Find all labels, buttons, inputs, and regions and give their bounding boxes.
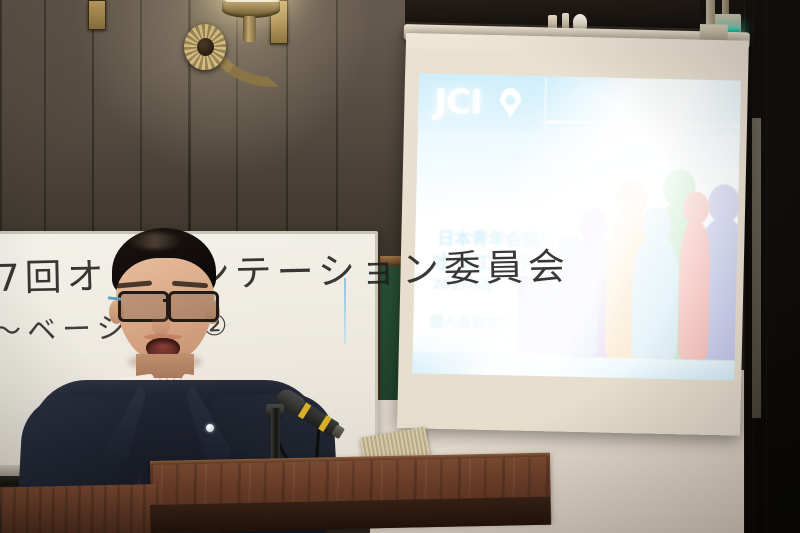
brass-plaque-left <box>88 0 106 30</box>
lamp-wall-rosette <box>184 24 226 70</box>
nose <box>152 314 170 336</box>
silhouette-skyblue <box>631 206 680 359</box>
glasses-bridge <box>163 299 170 302</box>
jci-logo-text: JCI <box>434 82 482 123</box>
door-frame-strip <box>752 118 761 418</box>
glasses-temple <box>108 296 121 300</box>
silhouette-pink <box>675 191 715 360</box>
podium-left-panel <box>0 484 161 533</box>
photo-scene: JCI 日本青年会議所 オリエンテーション委員会 2017年度 個人会員制度プロ… <box>0 0 800 533</box>
screen-mount <box>706 0 715 26</box>
lapel-pin <box>206 424 214 432</box>
projection-screen: JCI 日本青年会議所 オリエンテーション委員会 2017年度 個人会員制度プロ… <box>397 33 749 436</box>
hair-highlight <box>128 233 182 249</box>
projected-slide: JCI 日本青年会議所 オリエンテーション委員会 2017年度 個人会員制度プロ… <box>412 73 741 380</box>
lens-right <box>168 291 219 322</box>
shelf-objects <box>548 8 608 30</box>
wall-sconce-lamp <box>186 0 296 90</box>
eyeglasses <box>108 291 224 317</box>
